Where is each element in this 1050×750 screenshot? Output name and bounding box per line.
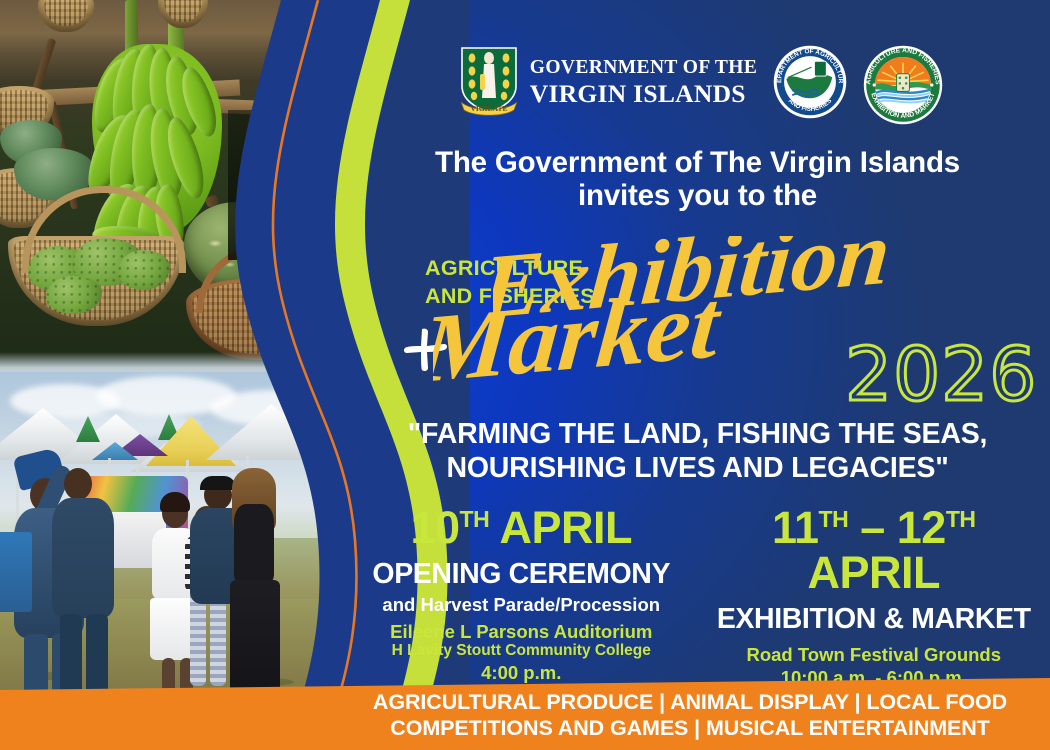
invite-line-2: invites you to the: [345, 179, 1050, 212]
date-dash: –: [860, 502, 885, 553]
coat-motto: VIGILATE: [470, 104, 507, 113]
event-tagline: "FARMING THE LAND, FISHING THE SEAS, NOU…: [345, 418, 1050, 485]
date-month: APRIL: [500, 502, 633, 553]
content-area: VIGILATE GOVERNMENT OF THE VIRGIN ISLAND…: [345, 0, 1050, 750]
invite-line-1: The Government of The Virgin Islands: [345, 146, 1050, 179]
date-venue-secondary: H Lavity Stoutt Community College: [349, 642, 694, 660]
date-ordinal-start: TH: [819, 506, 849, 532]
date-subheading: and Harvest Parade/Procession: [349, 595, 694, 615]
tagline-line-1: "FARMING THE LAND, FISHING THE SEAS,: [345, 418, 1050, 452]
date-number-start: 11: [772, 502, 819, 553]
date-number: 10: [410, 502, 459, 553]
date-line-right: 11TH – 12TH APRIL: [702, 505, 1047, 595]
date-number-end: 12: [897, 502, 946, 553]
date-block-opening-ceremony: 10TH APRIL OPENING CEREMONY and Harvest …: [345, 505, 698, 688]
exhibition-and-market-seal-icon: AGRICULTURE AND FISHERIES EXHIBITION AND…: [863, 45, 937, 119]
government-line-1: GOVERNMENT OF THE: [530, 58, 757, 78]
title-year: 2026: [845, 332, 1037, 418]
footer-activities: AGRICULTURAL PRODUCE | ANIMAL DISPLAY | …: [330, 689, 1050, 741]
date-ordinal-end: TH: [946, 506, 976, 532]
date-venue: Road Town Festival Grounds: [702, 644, 1047, 665]
government-wordmark: GOVERNMENT OF THE VIRGIN ISLANDS: [530, 58, 757, 106]
date-heading: OPENING CEREMONY: [349, 559, 694, 590]
government-logo: VIGILATE GOVERNMENT OF THE VIRGIN ISLAND…: [458, 46, 757, 118]
department-of-agriculture-seal-icon: DEPARTMENT OF AGRICULTURE AND FISHERIES: [773, 45, 847, 119]
date-line-left: 10TH APRIL: [349, 505, 694, 550]
script-market-text: Market: [433, 298, 726, 404]
government-line-2: VIRGIN ISLANDS: [530, 81, 757, 107]
date-heading: EXHIBITION & MARKET: [702, 604, 1047, 635]
tagline-line-2: NOURISHING LIVES AND LEGACIES": [345, 452, 1050, 486]
bvi-coat-of-arms-icon: VIGILATE: [458, 46, 520, 118]
date-block-exhibition-market: 11TH – 12TH APRIL EXHIBITION & MARKET Ro…: [698, 505, 1050, 688]
dates-row: 10TH APRIL OPENING CEREMONY and Harvest …: [345, 505, 1050, 688]
date-venue: Eileene L Parsons Auditorium: [349, 621, 694, 642]
invitation-text: The Government of The Virgin Islands inv…: [345, 146, 1050, 212]
footer-line-1: AGRICULTURAL PRODUCE | ANIMAL DISPLAY | …: [330, 689, 1050, 715]
date-ordinal: TH: [460, 506, 490, 532]
footer-banner: AGRICULTURAL PRODUCE | ANIMAL DISPLAY | …: [0, 678, 1050, 750]
poster-root: VIGILATE GOVERNMENT OF THE VIRGIN ISLAND…: [0, 0, 1050, 750]
date-month: APRIL: [808, 547, 941, 598]
footer-line-2: COMPETITIONS AND GAMES | MUSICAL ENTERTA…: [330, 715, 1050, 741]
event-title-lockup: AGRICULTURE AND FISHERIES Exhibition Mar…: [345, 236, 1050, 411]
logo-row: VIGILATE GOVERNMENT OF THE VIRGIN ISLAND…: [345, 36, 1050, 128]
